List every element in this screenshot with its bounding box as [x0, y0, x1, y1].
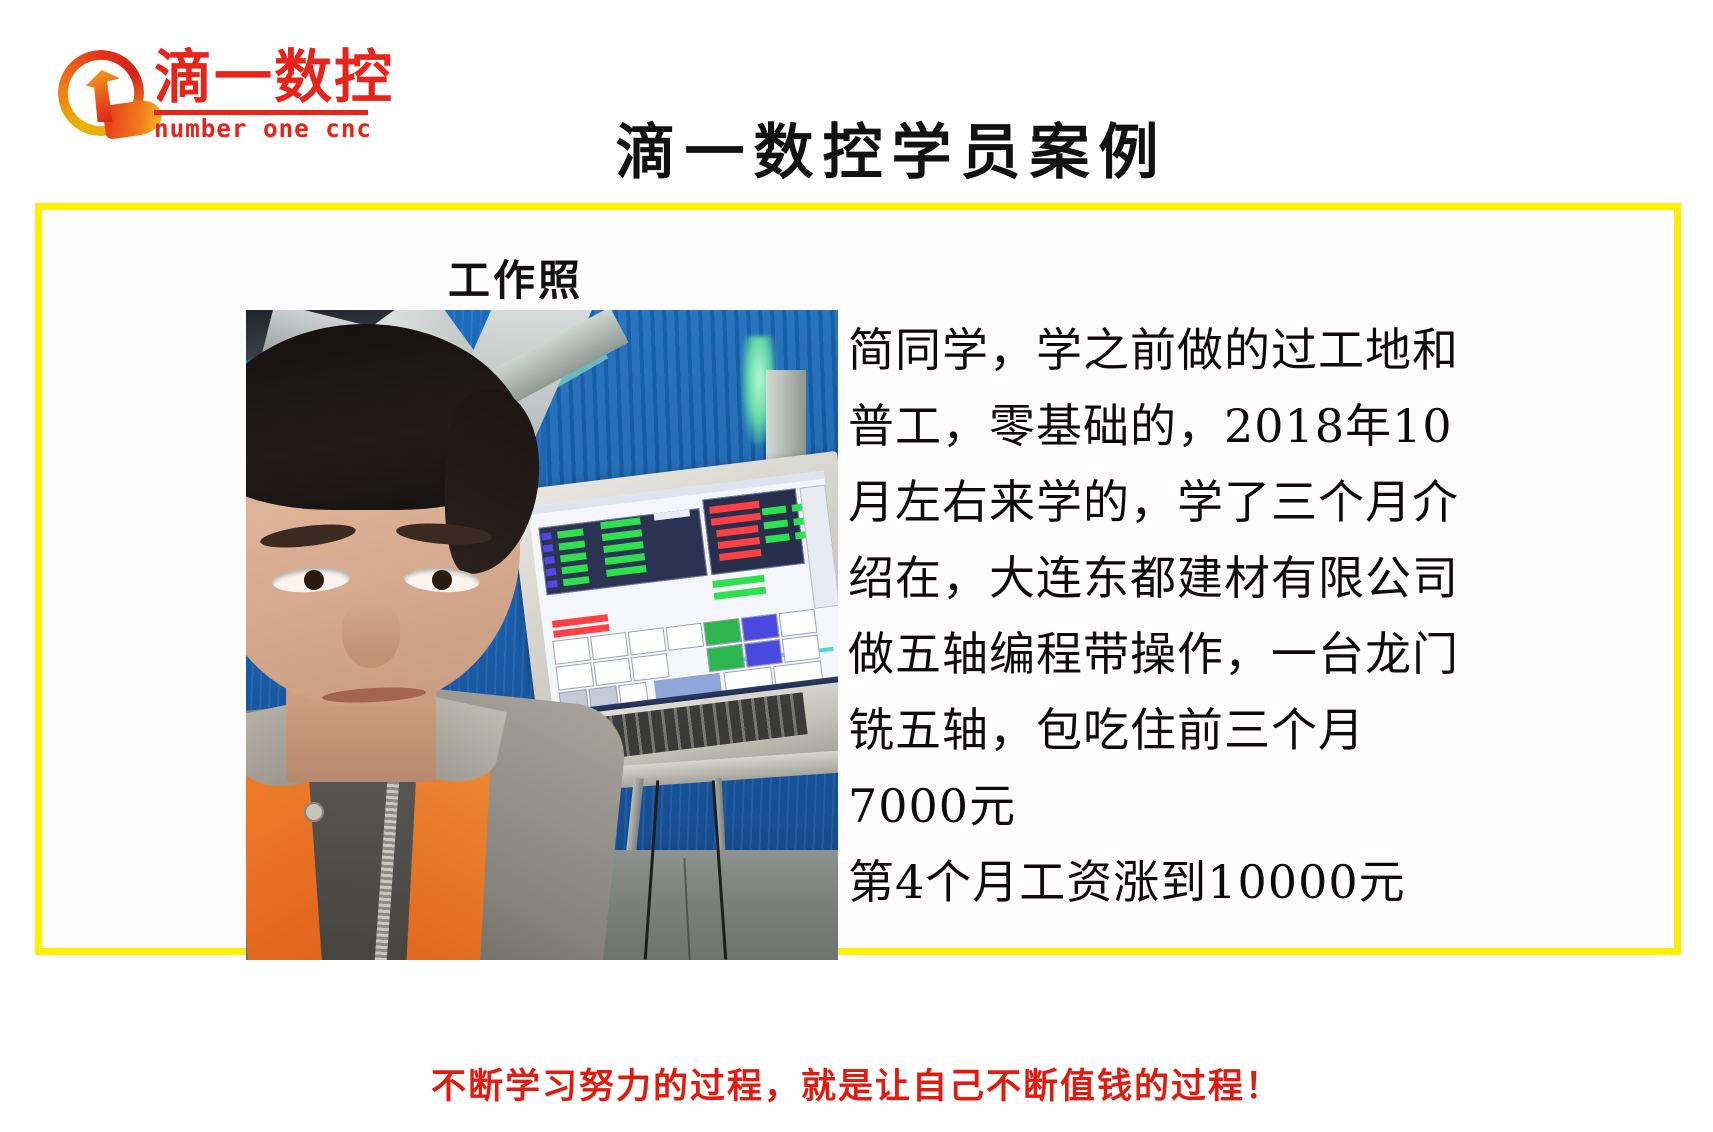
story-line: 绍在，大连东都建材有限公司 [848, 540, 1536, 616]
story-line: 月左右来学的，学了三个月介 [848, 464, 1536, 540]
photo-person-pupil-right [432, 570, 452, 590]
footer-slogan: 不断学习努力的过程，就是让自己不断值钱的过程！ [0, 1058, 1713, 1109]
page-title: 滴一数控学员案例 [0, 104, 1713, 191]
photo-jacket-chest-mark [251, 882, 310, 929]
story-line: 普工，零基础的，2018年10 [848, 388, 1536, 464]
photo-person-nose [342, 602, 400, 668]
story-line: 铣五轴，包吃住前三个月 [848, 692, 1536, 768]
photo-caption-label: 工作照 [448, 247, 583, 308]
photo-cnc-monitor-screen [528, 471, 838, 724]
story-line: 做五轴编程带操作，一台龙门 [848, 616, 1536, 692]
student-workplace-photo [246, 310, 838, 960]
student-story-text: 简同学，学之前做的过工地和 普工，零基础的，2018年10 月左右来学的，学了三… [848, 312, 1536, 920]
story-line: 第4个月工资涨到10000元 [848, 844, 1536, 920]
story-line: 7000元 [848, 768, 1536, 844]
story-line: 简同学，学之前做的过工地和 [848, 312, 1536, 388]
photo-jacket-snap-button [304, 802, 324, 822]
logo-chinese-name: 滴一数控 [154, 48, 394, 106]
photo-person-pupil-left [304, 570, 324, 590]
